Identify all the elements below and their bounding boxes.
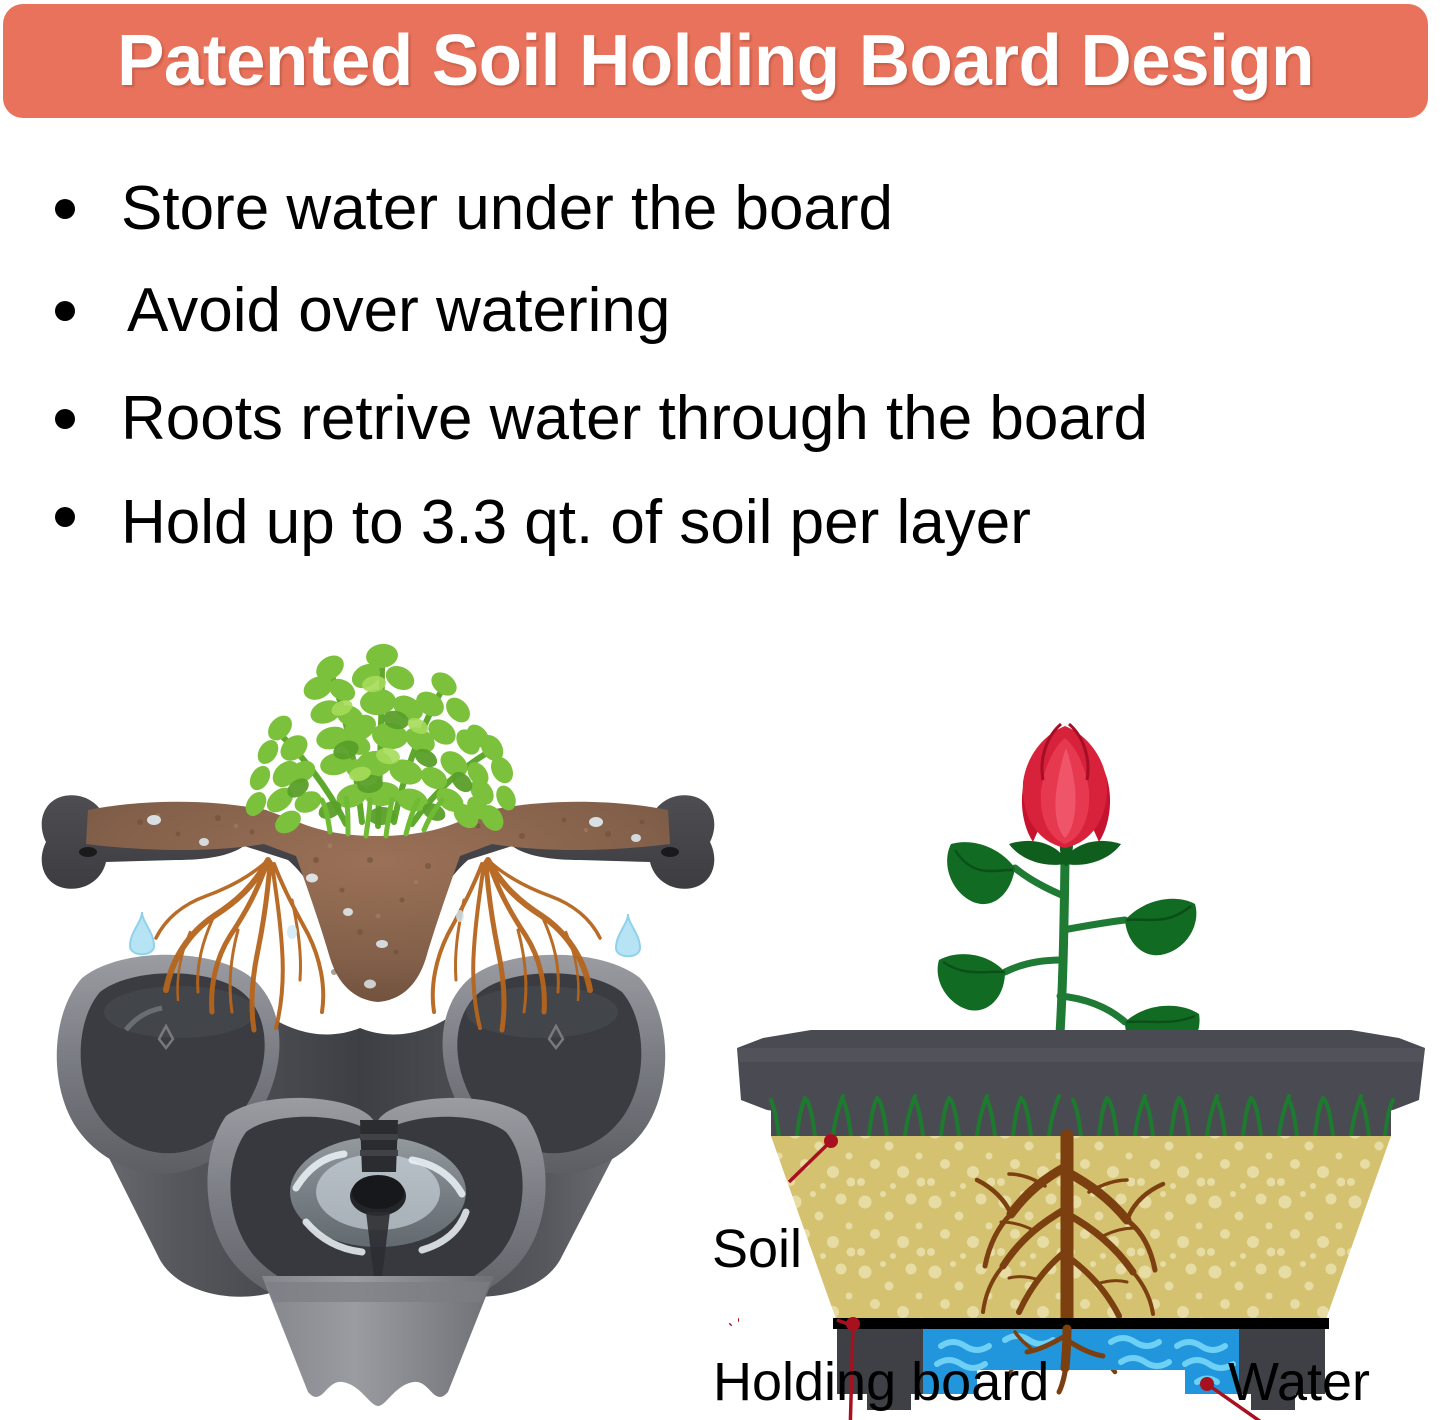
green-plant [241, 642, 519, 838]
list-item: Hold up to 3.3 qt. of soil per layer [55, 492, 1031, 554]
grass-strip [771, 1096, 1393, 1136]
soil-fill [771, 1136, 1391, 1322]
rose-plant [938, 724, 1200, 1064]
planter-base-cone [262, 1276, 494, 1406]
header-banner: Patented Soil Holding Board Design [3, 4, 1428, 118]
bullet-label: Hold up to 3.3 qt. of soil per layer [121, 492, 1031, 554]
rose-bloom [1022, 724, 1110, 848]
bullet-label: Store water under the board [121, 178, 893, 240]
bullet-dot-icon [55, 507, 75, 527]
page-title: Patented Soil Holding Board Design [117, 25, 1314, 97]
pot-cross-section-diagram [715, 630, 1445, 1420]
list-item: Store water under the board [55, 178, 893, 240]
list-item: Avoid over watering [55, 280, 670, 342]
rose-stem [1059, 860, 1065, 1050]
callout-label-soil: Soil [712, 1222, 802, 1276]
drain-tube [360, 1120, 398, 1172]
bullet-label: Avoid over watering [127, 280, 670, 342]
bullet-label: Roots retrive water through the board [121, 388, 1148, 450]
bullet-dot-icon [55, 301, 75, 321]
bullet-dot-icon [55, 409, 75, 429]
callout-label-water: Water [1228, 1355, 1370, 1409]
list-item: Roots retrive water through the board [55, 388, 1148, 450]
soil-body [771, 1136, 1391, 1322]
figures-area [0, 560, 1445, 1415]
callout-label-holding-board: Holding board [713, 1355, 1049, 1409]
holding-board-line [833, 1318, 1329, 1329]
stacking-planter-photo [30, 560, 730, 1415]
bullet-dot-icon [55, 199, 75, 219]
